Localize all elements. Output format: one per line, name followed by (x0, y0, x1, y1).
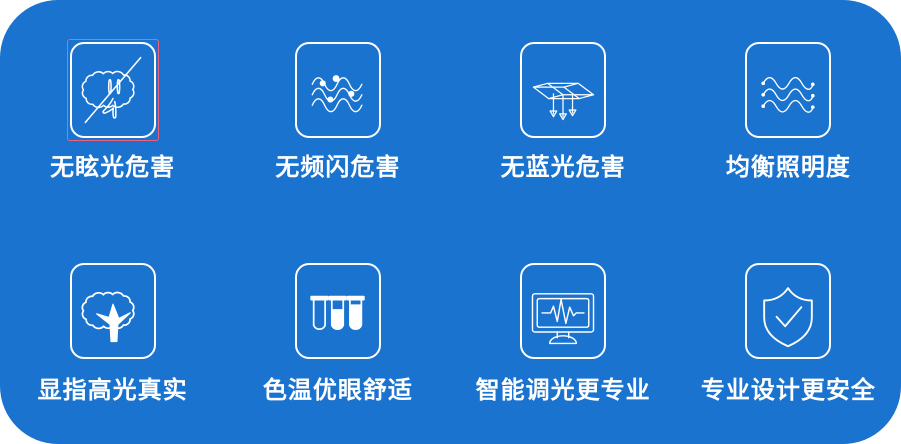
feature-label: 均衡照明度 (726, 156, 851, 180)
feature-label: 无频闪危害 (275, 156, 400, 180)
feature-card-no-flicker[interactable]: 无频闪危害 (225, 0, 450, 222)
feature-card-color-temperature[interactable]: 色温优眼舒适 (225, 222, 450, 444)
feature-label: 智能调光更专业 (476, 379, 651, 403)
smooth-waves-icon[interactable] (745, 42, 831, 138)
flicker-waves-dots-icon[interactable] (295, 42, 381, 138)
feature-card-no-glare[interactable]: 无眩光危害 (0, 0, 225, 222)
cotton-plant-slashed-icon[interactable] (70, 42, 156, 138)
panel-light-downward-arrows-icon[interactable] (520, 42, 606, 138)
feature-card-smart-dimming[interactable]: 智能调光更专业 (451, 222, 676, 444)
feature-grid: 无眩光危害 无频闪危害 (0, 0, 901, 444)
feature-label: 专业设计更安全 (701, 379, 876, 403)
feature-label: 显指高光真实 (38, 379, 188, 403)
feature-card-no-blue-light[interactable]: 无蓝光危害 (451, 0, 676, 222)
feature-highlights-panel: 无眩光危害 无频闪危害 (0, 0, 901, 444)
cotton-plant-filled-icon[interactable] (70, 263, 156, 359)
test-tubes-icon[interactable] (295, 263, 381, 359)
feature-label: 色温优眼舒适 (263, 379, 413, 403)
feature-card-uniform-illuminance[interactable]: 均衡照明度 (676, 0, 901, 222)
feature-label: 无蓝光危害 (501, 156, 626, 180)
feature-card-high-cri[interactable]: 显指高光真实 (0, 222, 225, 444)
shield-check-icon[interactable] (745, 263, 831, 359)
feature-card-safe-design[interactable]: 专业设计更安全 (676, 222, 901, 444)
feature-label: 无眩光危害 (50, 156, 175, 180)
monitor-waveform-icon[interactable] (520, 263, 606, 359)
